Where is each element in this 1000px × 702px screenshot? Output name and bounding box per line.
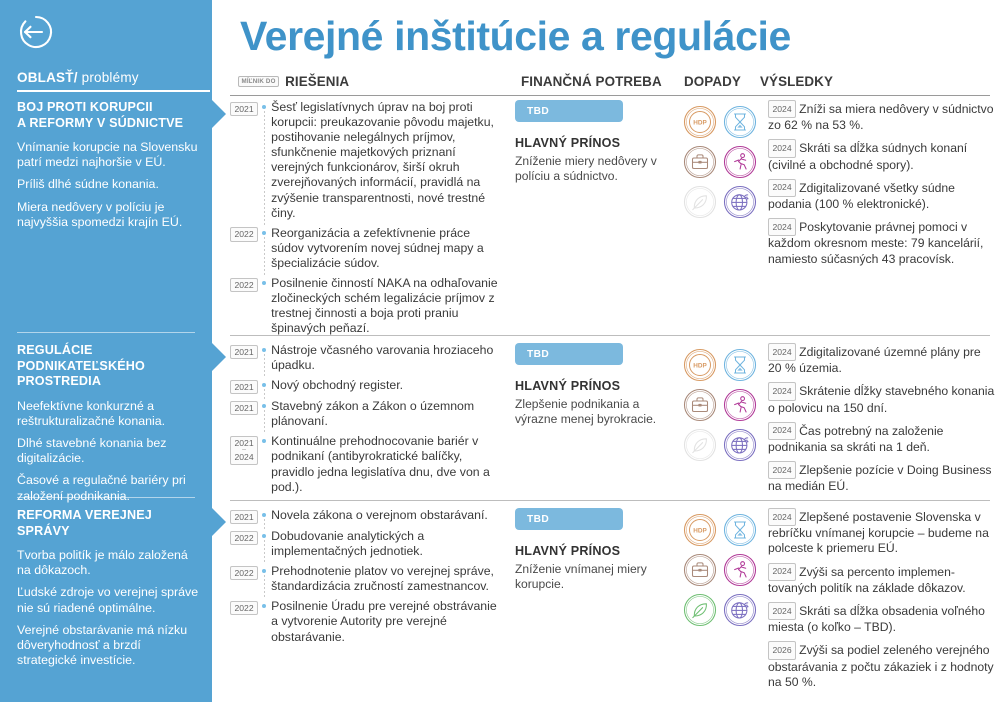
solution-text: Posilnenie Úradu pre verejné obstrávanie… [271, 599, 505, 644]
hourglass-icon[interactable] [722, 104, 758, 140]
result-text: Zlepšenie pozície v Doing Business na me… [768, 463, 992, 493]
solution-year-badge: 2021–2024 [230, 436, 258, 466]
result-year-badge: 2026 [768, 641, 796, 659]
solution-bullet-connector [258, 529, 271, 559]
impacts-column: HDP [682, 347, 758, 463]
rail-section-divider [17, 332, 195, 333]
solution-year-badge: 2022 [230, 531, 258, 546]
result-item: 2024Skráti sa dĺžka obsadenia voľného mi… [768, 602, 996, 635]
solution-year: 2021 [235, 403, 254, 413]
briefcase-icon[interactable] [682, 552, 718, 588]
solution-year-badge: 2021 [230, 510, 258, 525]
solution-item[interactable]: 2022Posilnenie činností NAKA na odhaľova… [230, 276, 505, 336]
solution-year: 2021 [235, 512, 254, 522]
solution-bullet-icon [262, 569, 266, 573]
rail-section-chevron-icon [212, 100, 226, 128]
rail-section-title: REGULÁCIE PODNIKATEĽSKÉHOPROSTREDIA [17, 343, 202, 390]
page-title: Verejné inštitúcie a regulácie [240, 13, 791, 60]
solution-year-badge: 2022 [230, 227, 258, 242]
rail-section-boj-proti-korupcii[interactable]: BOJ PROTI KORUPCIIA REFORMY V SÚDNICTVEV… [0, 100, 212, 230]
health-runner-icon[interactable] [722, 144, 758, 180]
rail-section-title-line: BOJ PROTI KORUPCII [17, 100, 202, 116]
result-year-badge: 2024 [768, 382, 796, 400]
milestone-badge: MÍĽNIK DO [238, 76, 279, 88]
rail-header-sub: problémy [82, 70, 139, 85]
solution-year: 2022 [235, 280, 254, 290]
solution-dotted-line [264, 111, 265, 226]
result-item: 2024Zlepšenie pozície v Doing Business n… [768, 461, 996, 494]
column-header-solutions-label: RIEŠENIA [285, 74, 349, 89]
rail-section-title-line: REFORMA VEREJNEJ SPRÁVY [17, 508, 202, 539]
result-item: 2024Čas potrebný na založenie podnikania… [768, 422, 996, 455]
column-header-results: VÝSLEDKY [760, 74, 833, 89]
rail-section-title-line: REGULÁCIE PODNIKATEĽSKÉHO [17, 343, 202, 374]
solution-bullet-icon [262, 534, 266, 538]
result-item: 2024Zdigitalizované územné plány pre 20 … [768, 343, 996, 376]
leaf-icon[interactable] [682, 592, 718, 628]
result-item: 2024Skrátenie dĺžky stavebného konania o… [768, 382, 996, 415]
result-text: Zdigitalizované územné plány pre 20 % úz… [768, 345, 981, 375]
rail-header-slash: / [74, 70, 78, 85]
solution-bullet-icon [262, 404, 266, 408]
solution-bullet-connector [258, 599, 271, 644]
solution-year-end: 2024 [235, 452, 254, 463]
solution-item[interactable]: 2021Stavebný zákon a Zákon o územnom plá… [230, 399, 505, 429]
finance-column: TBDHLAVNÝ PRÍNOSZníženie vnímanej miery … [515, 508, 675, 592]
result-year-badge: 2024 [768, 422, 796, 440]
rail-section-regulacie-podnikatelskeho-prostredia[interactable]: REGULÁCIE PODNIKATEĽSKÉHOPROSTREDIANeefe… [0, 343, 212, 504]
solution-bullet-connector [258, 276, 271, 336]
solution-text: Posilnenie činností NAKA na odhaľovanie … [271, 276, 505, 336]
solution-year: 2022 [235, 568, 254, 578]
rail-section-chevron-icon [212, 508, 226, 536]
solution-year: 2022 [235, 229, 254, 239]
solution-dotted-line [264, 575, 265, 599]
results-column: 2024Zníži sa miera nedôvery v súdnictvo … [768, 100, 996, 273]
result-year-badge: 2024 [768, 602, 796, 620]
solution-item[interactable]: 2021Nástroje včasného varovania hroziace… [230, 343, 505, 373]
finance-body: Zlepšenie podnikania a výrazne menej byr… [515, 397, 675, 427]
solution-text: Stavebný zákon a Zákon o územnom plánova… [271, 399, 505, 429]
leaf-icon[interactable] [682, 184, 718, 220]
globe-wifi-icon[interactable] [722, 427, 758, 463]
rail-section-chevron-icon [212, 343, 226, 371]
result-text: Zlepšené postavenie Slovenska v rebríčku… [768, 510, 989, 555]
solution-text: Dobudovanie analytických a implementačný… [271, 529, 505, 559]
rail-problem-item: Dlhé stavebné konania bez digitalizácie. [17, 436, 200, 466]
rail-header-divider [17, 90, 210, 92]
column-header-finance: FINANČNÁ POTREBA [521, 74, 662, 89]
solution-item[interactable]: 2022Posilnenie Úradu pre verejné obstráv… [230, 599, 505, 644]
solution-item[interactable]: 2021–2024Kontinuálne prehodnocovanie bar… [230, 434, 505, 494]
solution-bullet-icon [262, 348, 266, 352]
solution-bullet-icon [262, 281, 266, 285]
result-year-badge: 2024 [768, 100, 796, 118]
finance-body: Zníženie miery nedôvery v políciu a súdn… [515, 154, 675, 184]
finance-tbd-button[interactable]: TBD [515, 343, 623, 365]
solution-text: Novela zákona o verejnom obstarávaní. [271, 508, 505, 523]
rail-header-main: OBLASŤ [17, 70, 74, 85]
solution-year: 2021 [235, 104, 254, 114]
impacts-column: HDP [682, 512, 758, 628]
rail-section-title: REFORMA VEREJNEJ SPRÁVY [17, 508, 202, 539]
solution-text: Nový obchodný register. [271, 378, 505, 393]
solution-year: 2022 [235, 533, 254, 543]
result-text: Zvýši sa podiel zeleného verejného obsta… [768, 643, 994, 688]
leaf-icon[interactable] [682, 427, 718, 463]
result-year-badge: 2024 [768, 508, 796, 526]
rail-column-header: OBLASŤ/ problémy [17, 70, 207, 85]
result-year-badge: 2024 [768, 461, 796, 479]
solution-dotted-line [264, 519, 265, 529]
rail-problem-item: Verejné obstarávanie má nízku dôveryhodn… [17, 623, 200, 669]
impacts-column: HDP [682, 104, 758, 220]
rail-problem-item: Časové a regulačné bariéry pri založení … [17, 473, 200, 503]
solution-bullet-icon [262, 513, 266, 517]
solution-item[interactable]: 2022Reorganizácia a zefektívnenie práce … [230, 226, 505, 271]
rail-problem-item: Vnímanie korupcie na Slovensku patrí med… [17, 140, 200, 170]
result-item: 2024Zníži sa miera nedôvery v súdnictvo … [768, 100, 996, 133]
result-text: Zníži sa miera nedôvery v súdnictvo zo 6… [768, 102, 994, 132]
solution-text: Nástroje včasného varovania hroziaceho ú… [271, 343, 505, 373]
solution-text: Reorganizácia a zefektívnenie práce súdo… [271, 226, 505, 271]
solution-bullet-connector [258, 378, 271, 394]
result-year-badge: 2024 [768, 343, 796, 361]
solution-text: Kontinuálne prehodnocovanie bariér v pod… [271, 434, 505, 494]
solution-bullet-connector [258, 100, 271, 221]
solution-item[interactable]: 2021Novela zákona o verejnom obstarávaní… [230, 508, 505, 524]
rail-problem-item: Príliš dlhé súdne konania. [17, 177, 200, 192]
rail-section-title: BOJ PROTI KORUPCIIA REFORMY V SÚDNICTVE [17, 100, 202, 131]
header-divider [230, 95, 990, 96]
finance-heading: HLAVNÝ PRÍNOS [515, 379, 675, 393]
gdp-icon[interactable]: HDP [682, 512, 718, 548]
solution-bullet-icon [262, 105, 266, 109]
solution-year-badge: 2021 [230, 380, 258, 395]
briefcase-icon[interactable] [682, 144, 718, 180]
section-divider [230, 500, 990, 501]
solution-dotted-line [264, 389, 265, 399]
column-header-impacts: DOPADY [684, 74, 741, 89]
solution-item[interactable]: 2021Nový obchodný register. [230, 378, 505, 394]
result-text: Zdigitalizované všetky súdne podania (10… [768, 181, 955, 211]
gdp-icon[interactable]: HDP [682, 347, 718, 383]
rail-problem-item: Neefektívne konkurzné a reštrukturalizač… [17, 399, 200, 429]
solution-dotted-line [264, 410, 265, 434]
solution-year: 2021 [235, 347, 254, 357]
solution-year-badge: 2022 [230, 278, 258, 293]
solution-bullet-icon [262, 439, 266, 443]
result-text: Skrátenie dĺžky stavebného konania o pol… [768, 384, 994, 414]
rail-problem-item: Ľudské zdroje vo verejnej správe nie sú … [17, 585, 200, 615]
finance-column: TBDHLAVNÝ PRÍNOSZlepšenie podnikania a v… [515, 343, 675, 427]
solution-bullet-icon [262, 231, 266, 235]
svg-text:HDP: HDP [693, 528, 707, 535]
result-text: Skráti sa dĺžka súdnych konaní (civilné … [768, 141, 967, 171]
circle-back-arrow-icon[interactable] [14, 10, 58, 54]
solutions-column: 2021Nástroje včasného varovania hroziace… [230, 343, 505, 500]
rail-section-title-line: A REFORMY V SÚDNICTVE [17, 116, 202, 132]
solution-bullet-connector [258, 434, 271, 494]
finance-tbd-button[interactable]: TBD [515, 508, 623, 530]
solutions-column: 2021Novela zákona o verejnom obstarávaní… [230, 508, 505, 650]
briefcase-icon[interactable] [682, 387, 718, 423]
rail-section-divider [17, 497, 195, 498]
result-item: 2024Zlepšené postavenie Slovenska v rebr… [768, 508, 996, 557]
result-year-badge: 2024 [768, 139, 796, 157]
solution-text: Šesť legislatívnych úprav na boj proti k… [271, 100, 505, 221]
solution-year-badge: 2021 [230, 345, 258, 360]
finance-tbd-button[interactable]: TBD [515, 100, 623, 122]
solution-year: 2021 [235, 382, 254, 392]
health-runner-icon[interactable] [722, 387, 758, 423]
finance-heading: HLAVNÝ PRÍNOS [515, 544, 675, 558]
solution-bullet-connector [258, 226, 271, 271]
left-rail: OBLASŤ/ problémy BOJ PROTI KORUPCIIA REF… [0, 0, 212, 702]
hourglass-icon[interactable] [722, 512, 758, 548]
rail-problem-item: Miera nedôvery v políciu je najvyššia sp… [17, 200, 200, 230]
globe-wifi-icon[interactable] [722, 592, 758, 628]
result-text: Poskytovanie právnej pomoci v každom okr… [768, 220, 983, 265]
svg-text:HDP: HDP [693, 363, 707, 370]
solution-dotted-line [264, 354, 265, 378]
solution-bullet-connector [258, 564, 271, 594]
solution-dotted-line [264, 237, 265, 276]
finance-body: Zníženie vnímanej miery korupcie. [515, 562, 675, 592]
solution-item[interactable]: 2022Dobudovanie analytických a implement… [230, 529, 505, 559]
section-divider [230, 335, 990, 336]
solution-bullet-connector [258, 508, 271, 524]
solution-year-badge: 2022 [230, 601, 258, 616]
solution-dotted-line [264, 540, 265, 564]
result-item: 2024Zdigitalizované všetky súdne podania… [768, 179, 996, 212]
solution-bullet-connector [258, 343, 271, 373]
rail-section-reforma-verejnej-spravy[interactable]: REFORMA VEREJNEJ SPRÁVYTvorba politík je… [0, 508, 212, 668]
result-item: 2026Zvýši sa podiel zeleného verejného o… [768, 641, 996, 690]
globe-wifi-icon[interactable] [722, 184, 758, 220]
results-column: 2024Zdigitalizované územné plány pre 20 … [768, 343, 996, 501]
solution-bullet-icon [262, 604, 266, 608]
solution-bullet-icon [262, 383, 266, 387]
solutions-column: 2021Šesť legislatívnych úprav na boj pro… [230, 100, 505, 341]
solution-year-badge: 2022 [230, 566, 258, 581]
solution-text: Prehodnotenie platov vo verejnej správe,… [271, 564, 505, 594]
finance-heading: HLAVNÝ PRÍNOS [515, 136, 675, 150]
health-runner-icon[interactable] [722, 552, 758, 588]
result-text: Skráti sa dĺžka obsadenia voľného miesta… [768, 604, 985, 634]
column-header-solutions: MÍĽNIK DORIEŠENIA [238, 74, 349, 89]
solution-year-badge: 2021 [230, 102, 258, 117]
solution-year: 2022 [235, 603, 254, 613]
result-year-badge: 2024 [768, 563, 796, 581]
solution-year-badge: 2021 [230, 401, 258, 416]
result-text: Zvýši sa percento implemen­tovaných poli… [768, 565, 966, 595]
solution-bullet-connector [258, 399, 271, 429]
result-item: 2024Poskytovanie právnej pomoci v každom… [768, 218, 996, 267]
result-year-badge: 2024 [768, 179, 796, 197]
finance-column: TBDHLAVNÝ PRÍNOSZníženie miery nedôvery … [515, 100, 675, 184]
solution-item[interactable]: 2021Šesť legislatívnych úprav na boj pro… [230, 100, 505, 221]
result-item: 2024Zvýši sa percento implemen­tovaných … [768, 563, 996, 596]
svg-text:HDP: HDP [693, 120, 707, 127]
result-year-badge: 2024 [768, 218, 796, 236]
rail-section-title-line: PROSTREDIA [17, 374, 202, 390]
solution-item[interactable]: 2022Prehodnotenie platov vo verejnej spr… [230, 564, 505, 594]
gdp-icon[interactable]: HDP [682, 104, 718, 140]
hourglass-icon[interactable] [722, 347, 758, 383]
rail-problem-item: Tvorba politík je málo založená na dôkaz… [17, 548, 200, 578]
result-item: 2024Skráti sa dĺžka súdnych konaní (civi… [768, 139, 996, 172]
results-column: 2024Zlepšené postavenie Slovenska v rebr… [768, 508, 996, 696]
